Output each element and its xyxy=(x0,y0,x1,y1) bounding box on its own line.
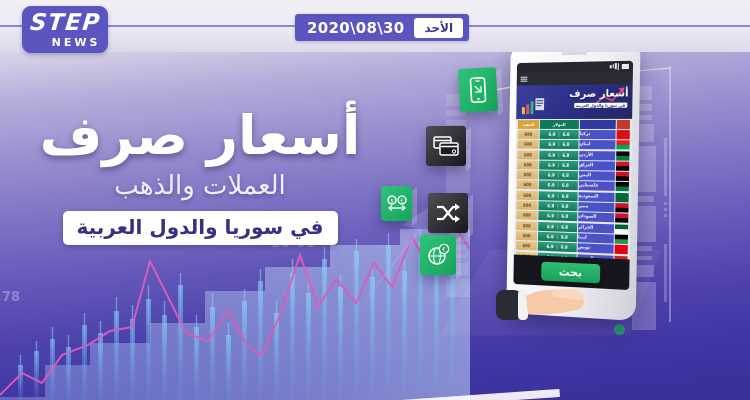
promo-banner: 78 25 01 xyxy=(0,0,750,400)
phone-mockup: أسعار صرف في سوريا والدول العربية xyxy=(498,42,658,332)
cell-usd: 6.9|6.8 xyxy=(539,150,578,159)
table-row[interactable]: 6006.9|6.8الأردن xyxy=(517,150,629,160)
cell-country: مصر xyxy=(578,202,614,212)
svg-text:€: € xyxy=(400,198,403,204)
cell-usd: 6.9|6.8 xyxy=(540,130,579,139)
cell-gold: 600 xyxy=(516,241,537,251)
cell-country: العراق xyxy=(579,161,615,171)
credit-cards-icon-card[interactable] xyxy=(426,126,466,166)
cell-flag xyxy=(615,214,628,224)
cell-flag xyxy=(615,224,628,234)
table-row[interactable]: 6006.9|6.8اليمن xyxy=(517,170,629,181)
smartphone-icon-card[interactable] xyxy=(458,67,498,113)
cell-country: الجزائر xyxy=(578,223,614,233)
cell-flag xyxy=(615,203,628,212)
smartphone-icon xyxy=(467,75,488,104)
globe-currency-icon-card[interactable]: € xyxy=(420,235,456,275)
header-country xyxy=(580,120,616,129)
logo-subword: NEWS xyxy=(30,37,101,48)
cell-usd: 6.9|6.8 xyxy=(539,171,578,181)
cell-gold: 600 xyxy=(517,201,538,210)
svg-text:€: € xyxy=(442,246,446,253)
cell-gold: 600 xyxy=(517,180,538,189)
signal-bar-4 xyxy=(617,63,619,70)
card-edge xyxy=(468,194,473,238)
date-badge: 2020\08\30 الأحد xyxy=(295,14,469,41)
cell-usd: 6.9|6.8 xyxy=(538,211,577,221)
battery-icon xyxy=(622,63,629,68)
table-row[interactable]: 6006.9|6.8لبنان xyxy=(518,140,630,150)
cell-flag xyxy=(616,182,629,191)
cell-usd: 6.9|6.8 xyxy=(538,201,577,211)
flag-icon xyxy=(617,130,630,139)
page-tagline: في سوريا والدول العربية xyxy=(63,211,338,245)
cell-country: تونس xyxy=(578,243,614,253)
cell-gold: 600 xyxy=(516,231,537,241)
cell-country: تركيا xyxy=(580,130,616,139)
cell-flag xyxy=(615,245,628,255)
cell-gold: 600 xyxy=(517,150,538,159)
cell-usd: 6.9|6.8 xyxy=(539,181,578,191)
cell-flag xyxy=(616,151,629,160)
card-edge xyxy=(456,236,461,280)
header-flag xyxy=(617,120,630,129)
cell-usd: 6.9|6.8 xyxy=(539,140,578,149)
cell-country: الأردن xyxy=(579,151,615,160)
menu-icon[interactable] xyxy=(521,75,528,84)
credit-cards-icon xyxy=(432,134,460,158)
shuffle-arrows-icon-card[interactable] xyxy=(428,193,468,233)
app-subtitle: في سوريا والدول العربية xyxy=(574,103,627,108)
cell-gold: 600 xyxy=(517,170,538,179)
cell-usd: 6.9|6.8 xyxy=(539,161,578,170)
flag-icon xyxy=(615,234,628,244)
signal-bar-3 xyxy=(615,63,617,69)
cell-usd: 6.9|6.8 xyxy=(538,232,577,242)
signal-bar-1 xyxy=(610,65,612,68)
cell-country: اليمن xyxy=(579,171,615,181)
app-title: أسعار صرف xyxy=(569,88,629,100)
phone-speaker xyxy=(561,52,587,56)
flag-icon xyxy=(615,193,628,202)
cell-flag xyxy=(616,172,629,181)
cell-flag xyxy=(615,193,628,202)
flag-icon xyxy=(616,182,629,191)
hero-bars-icon xyxy=(521,96,550,118)
app-hero-banner: أسعار صرف في سوريا والدول العربية xyxy=(516,84,633,119)
cell-gold: 600 xyxy=(516,221,537,231)
weekday-chip: الأحد xyxy=(414,18,463,38)
signal-bar-2 xyxy=(612,64,614,69)
phone-screen: أسعار صرف في سوريا والدول العربية xyxy=(513,61,633,290)
flag-icon xyxy=(615,203,628,212)
cell-usd: 6.9|6.8 xyxy=(538,222,577,232)
cell-country: السعودية xyxy=(579,192,615,202)
cell-country: فلسطين xyxy=(579,182,615,192)
cell-country: السودان xyxy=(578,213,614,223)
page-subtitle: العملات والذهب xyxy=(0,171,400,201)
card-edge xyxy=(466,127,471,171)
step-news-logo[interactable]: STEP NEWS xyxy=(22,6,108,53)
date-text: 2020\08\30 xyxy=(307,19,404,37)
header-usd: الدولار xyxy=(540,120,579,129)
hero-text-block: أسعار صرف العملات والذهب في سوريا والدول… xyxy=(0,108,400,245)
cell-gold: 600 xyxy=(516,211,537,220)
cell-gold: 600 xyxy=(517,191,538,200)
flag-icon xyxy=(615,245,628,255)
page-title: أسعار صرف xyxy=(0,108,400,165)
flag-icon xyxy=(616,141,629,150)
cell-flag xyxy=(615,234,628,244)
cell-gold: 600 xyxy=(518,140,539,149)
cell-usd: 6.9|6.8 xyxy=(538,242,577,253)
flag-icon xyxy=(616,151,629,160)
cell-flag xyxy=(617,130,630,139)
logo-wordmark: STEP xyxy=(28,12,101,35)
chart-label-left: 78 xyxy=(2,290,20,305)
cell-country: ليبيا xyxy=(578,233,614,243)
header-gold: الذهب xyxy=(518,120,539,129)
table-body: 6006.9|6.8تركيا6006.9|6.8لبنان6006.9|6.8… xyxy=(516,130,630,265)
flag-icon xyxy=(616,161,629,170)
flag-icon xyxy=(615,224,628,234)
table-row[interactable]: 6006.9|6.8العراق xyxy=(517,160,629,170)
shuffle-arrows-icon xyxy=(435,201,461,225)
table-row[interactable]: 6006.9|6.8تركيا xyxy=(518,130,630,139)
cell-gold: 600 xyxy=(518,130,539,139)
flag-icon xyxy=(615,214,628,224)
flag-icon xyxy=(616,172,629,181)
card-edge xyxy=(412,187,417,226)
currency-table: الذهب الدولار 6006.9|6.8تركيا6006.9|6.8ل… xyxy=(514,119,632,268)
cell-flag xyxy=(616,141,629,150)
cell-usd: 6.9|6.8 xyxy=(539,191,578,201)
cell-gold: 600 xyxy=(517,160,538,169)
cell-country: لبنان xyxy=(579,140,615,149)
cell-flag xyxy=(616,161,629,170)
globe-currency-icon: € xyxy=(426,243,450,267)
hand-pointer xyxy=(496,274,616,338)
table-header-row: الذهب الدولار xyxy=(518,120,630,129)
